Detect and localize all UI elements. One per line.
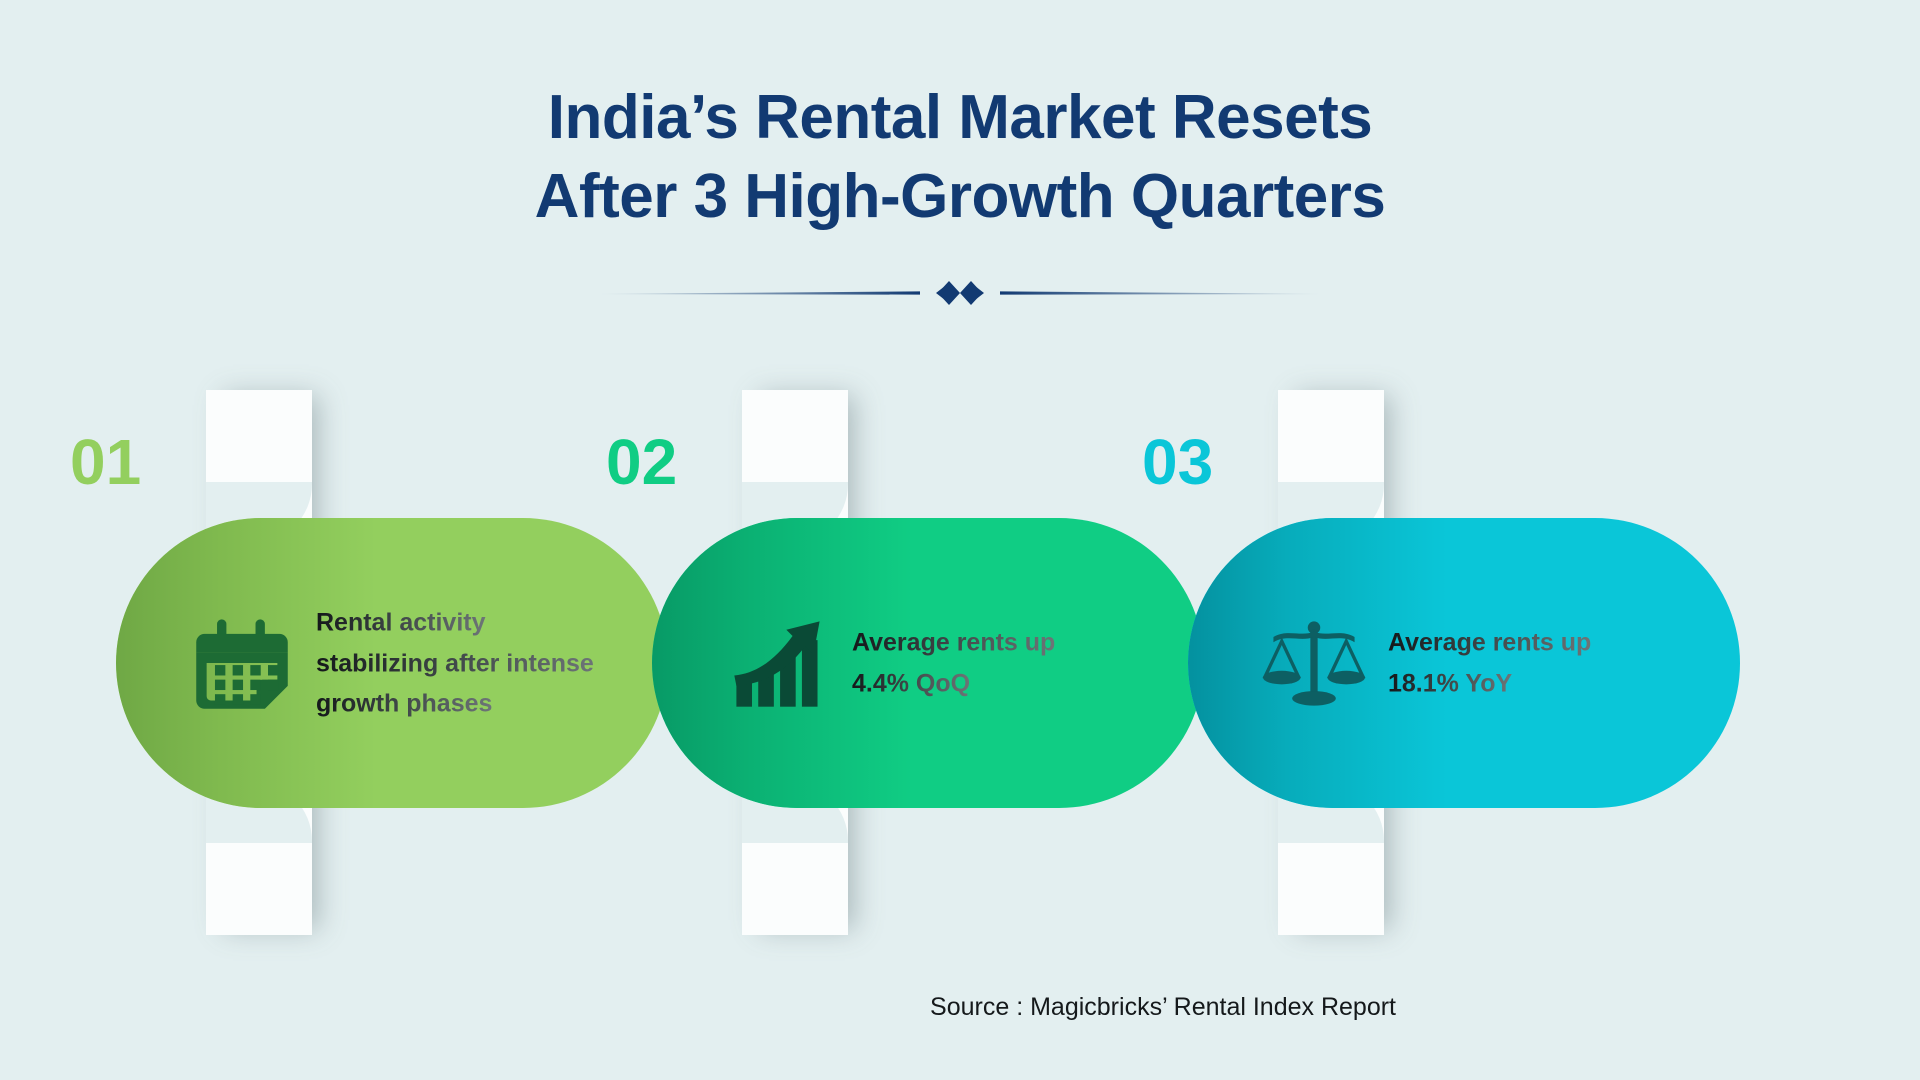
card-text-line-3: growth phases (316, 689, 492, 717)
card-text-line-1: Average rents up (1388, 629, 1591, 657)
card-text-line-1: Rental activity (316, 608, 486, 636)
card-02[interactable]: 02 (594, 390, 1204, 935)
card-text-03: Average rents up 18.1% YoY (1388, 623, 1768, 704)
infographic-canvas: India’s Rental Market Resets After 3 Hig… (0, 0, 1920, 1080)
cards-row: 01 (0, 0, 1920, 1080)
card-pill: Rental activity stabilizing after intens… (116, 518, 668, 808)
card-01[interactable]: 01 (58, 390, 668, 935)
card-03[interactable]: 03 (1130, 390, 1740, 935)
bar-chart-growth-icon (726, 611, 830, 715)
card-number-01: 01 (70, 430, 141, 494)
card-text-line-2: stabilizing after intense (316, 649, 594, 677)
card-text-line-1: Average rents up (852, 629, 1055, 657)
card-pill: Average rents up 18.1% YoY (1188, 518, 1740, 808)
calendar-icon (190, 611, 294, 715)
card-pill: Average rents up 4.4% QoQ (652, 518, 1204, 808)
card-text-line-2: 18.1% YoY (1388, 669, 1512, 697)
card-text-line-2: 4.4% QoQ (852, 669, 970, 697)
card-number-03: 03 (1142, 430, 1213, 494)
card-number-02: 02 (606, 430, 677, 494)
balance-scale-icon (1262, 611, 1366, 715)
source-label: Source : Magicbricks’ Rental Index Repor… (930, 993, 1396, 1022)
